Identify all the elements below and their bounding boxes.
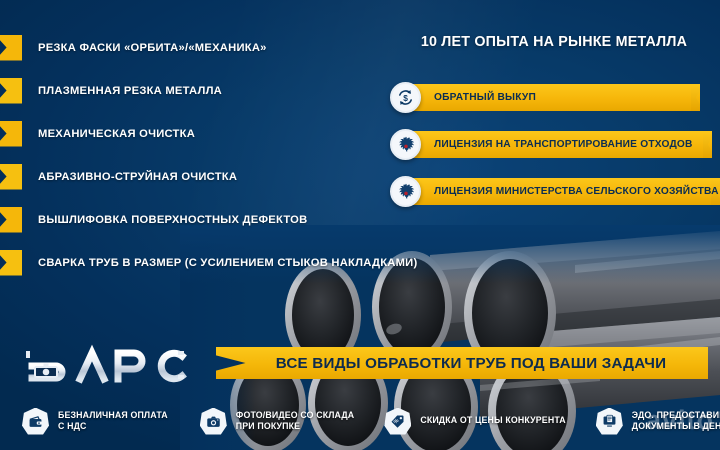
service-label: АБРАЗИВНО-СТРУЙНАЯ ОЧИСТКА [38, 171, 237, 183]
service-label: ВЫШЛИФОВКА ПОВЕРХНОСТНЫХ ДЕФЕКТОВ [38, 214, 307, 226]
badge-agriculture-license: ЛИЦЕНЗИЯ МИНИСТЕРСТВА СЕЛЬСКОГО ХОЗЯЙСТВ… [390, 178, 720, 205]
headline-text: 10 ЛЕТ ОПЫТА НА РЫНКЕ МЕТАЛЛА [396, 34, 712, 50]
avito-watermark: avito [646, 405, 714, 436]
badge-waste-license: ЛИЦЕНЗИЯ НА ТРАНСПОРТИРОВАНИЕ ОТХОДОВ [390, 131, 720, 158]
wallet-icon [22, 408, 49, 435]
feature-line1: БЕЗНАЛИЧНАЯ ОПЛАТА [58, 410, 168, 420]
services-list: РЕЗКА ФАСКИ «ОРБИТА»/«МЕХАНИКА» ПЛАЗМЕНН… [0, 26, 420, 284]
svg-text:$: $ [403, 93, 408, 103]
feature-line1: СКИДКА ОТ ЦЕНЫ КОНКУРЕНТА [420, 415, 565, 425]
badges-group: $ ОБРАТНЫЙ ВЫКУП ЛИЦЕНЗИЯ НА ТРАНСПОРТИР… [390, 84, 720, 225]
document-screen-icon [596, 408, 623, 435]
main-banner: ВСЕ ВИДЫ ОБРАБОТКИ ТРУБ ПОД ВАШИ ЗАДАЧИ [216, 347, 708, 379]
badge-label: ЛИЦЕНЗИЯ НА ТРАНСПОРТИРОВАНИЕ ОТХОДОВ [434, 131, 693, 158]
double-eagle-emblem-icon [390, 176, 421, 207]
feature-label: СКИДКА ОТ ЦЕНЫ КОНКУРЕНТА [420, 415, 565, 427]
bullet-marker-icon [0, 250, 22, 276]
main-banner-text: ВСЕ ВИДЫ ОБРАБОТКИ ТРУБ ПОД ВАШИ ЗАДАЧИ [258, 355, 666, 372]
feature-line2: ПРИ ПОКУПКЕ [236, 421, 355, 433]
feature-label: БЕЗНАЛИЧНАЯ ОПЛАТА С НДС [58, 410, 168, 433]
advertisement-poster: РЕЗКА ФАСКИ «ОРБИТА»/«МЕХАНИКА» ПЛАЗМЕНН… [0, 0, 720, 450]
price-tag-icon: % [384, 408, 411, 435]
feature-competitor-discount: % СКИДКА ОТ ЦЕНЫ КОНКУРЕНТА [384, 401, 565, 441]
feature-line2: С НДС [58, 421, 168, 433]
badge-label: ОБРАТНЫЙ ВЫКУП [434, 84, 536, 111]
service-label: СВАРКА ТРУБ В РАЗМЕР (С УСИЛЕНИЕМ СТЫКОВ… [38, 257, 417, 269]
double-eagle-emblem-icon [390, 129, 421, 160]
bullet-marker-icon [0, 164, 22, 190]
badge-buyback: $ ОБРАТНЫЙ ВЫКУП [390, 84, 720, 111]
list-item: АБРАЗИВНО-СТРУЙНАЯ ОЧИСТКА [0, 155, 420, 198]
list-item: СВАРКА ТРУБ В РАЗМЕР (С УСИЛЕНИЕМ СТЫКОВ… [0, 241, 420, 284]
badge-label: ЛИЦЕНЗИЯ МИНИСТЕРСТВА СЕЛЬСКОГО ХОЗЯЙСТВ… [434, 178, 719, 205]
bullet-marker-icon [0, 78, 22, 104]
list-item: ПЛАЗМЕННАЯ РЕЗКА МЕТАЛЛА [0, 69, 420, 112]
service-label: РЕЗКА ФАСКИ «ОРБИТА»/«МЕХАНИКА» [38, 42, 267, 54]
bullet-marker-icon [0, 207, 22, 233]
service-label: МЕХАНИЧЕСКАЯ ОЧИСТКА [38, 128, 195, 140]
company-logo: БАРС [22, 342, 197, 388]
feature-label: ФОТО/ВИДЕО СО СКЛАДА ПРИ ПОКУПКЕ [236, 410, 355, 433]
features-strip: БЕЗНАЛИЧНАЯ ОПЛАТА С НДС ФОТО/ВИДЕО СО С… [0, 392, 720, 450]
camera-icon [200, 408, 227, 435]
list-item: РЕЗКА ФАСКИ «ОРБИТА»/«МЕХАНИКА» [0, 26, 420, 69]
bullet-marker-icon [0, 121, 22, 147]
service-label: ПЛАЗМЕННАЯ РЕЗКА МЕТАЛЛА [38, 85, 222, 97]
feature-cashless-payment: БЕЗНАЛИЧНАЯ ОПЛАТА С НДС [22, 401, 168, 441]
feature-photo-video: ФОТО/ВИДЕО СО СКЛАДА ПРИ ПОКУПКЕ [200, 401, 355, 441]
bullet-marker-icon [0, 35, 22, 61]
money-refresh-icon: $ [390, 82, 421, 113]
list-item: МЕХАНИЧЕСКАЯ ОЧИСТКА [0, 112, 420, 155]
list-item: ВЫШЛИФОВКА ПОВЕРХНОСТНЫХ ДЕФЕКТОВ [0, 198, 420, 241]
feature-line1: ФОТО/ВИДЕО СО СКЛАДА [236, 410, 355, 420]
